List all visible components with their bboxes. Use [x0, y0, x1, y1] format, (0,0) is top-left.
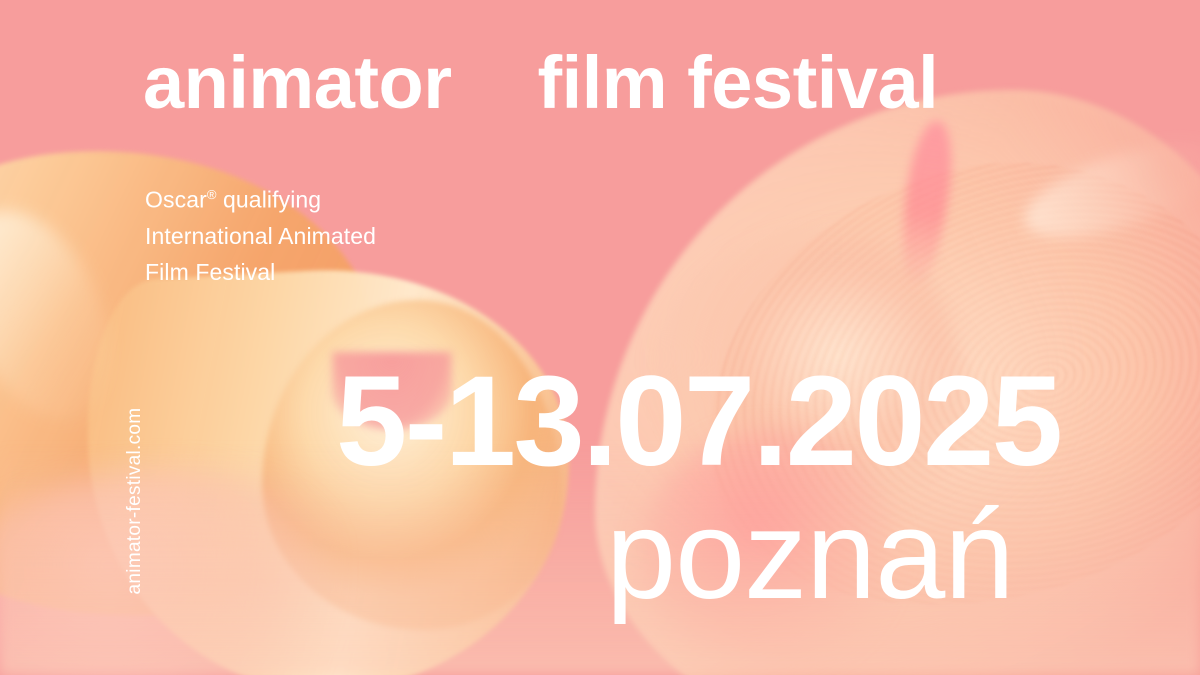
- festival-website-url[interactable]: animator-festival.com: [124, 351, 146, 651]
- subtitle-line-2: International Animated: [145, 218, 376, 254]
- festival-city: poznań: [606, 492, 1013, 618]
- festival-subtitle: Oscar® qualifying International Animated…: [145, 177, 376, 290]
- poster-typography: animatorfilm festival Oscar® qualifying …: [0, 0, 1200, 675]
- registered-trademark-icon: ®: [207, 187, 217, 202]
- festival-poster: animatorfilm festival Oscar® qualifying …: [0, 0, 1200, 675]
- festival-headline: animatorfilm festival: [143, 47, 938, 118]
- subtitle-qualifying-text: qualifying: [217, 187, 322, 213]
- headline-word-film-festival: film festival: [538, 41, 939, 124]
- headline-word-animator: animator: [143, 41, 452, 124]
- subtitle-oscar-text: Oscar: [145, 187, 207, 213]
- subtitle-line-1: Oscar® qualifying: [145, 177, 376, 218]
- festival-dates: 5-13.07.2025: [336, 358, 1060, 486]
- subtitle-line-3: Film Festival: [145, 254, 376, 290]
